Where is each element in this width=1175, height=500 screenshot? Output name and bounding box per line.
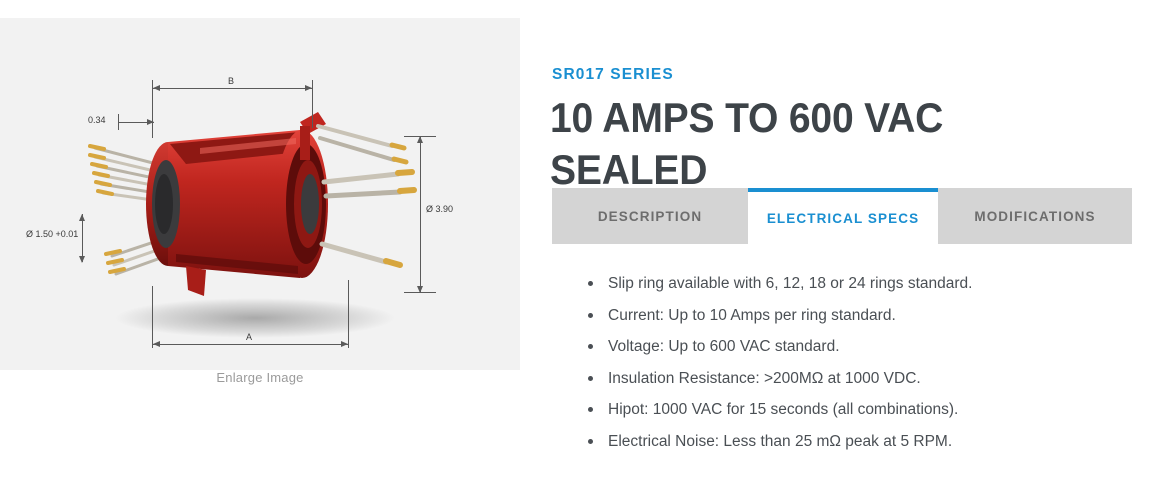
dim-a-ext-right: [348, 280, 349, 348]
tab-bar: DESCRIPTION ELECTRICAL SPECS MODIFICATIO…: [552, 188, 1132, 244]
list-item: Slip ring available with 6, 12, 18 or 24…: [588, 268, 1133, 300]
dim-b-arrow-right: [305, 85, 312, 91]
list-item: Insulation Resistance: >200MΩ at 1000 VD…: [588, 363, 1133, 395]
list-item: Hipot: 1000 VAC for 15 seconds (all comb…: [588, 394, 1133, 426]
list-item: Current: Up to 10 Amps per ring standard…: [588, 300, 1133, 332]
dim-034-tick2: [152, 114, 153, 130]
tab-description[interactable]: DESCRIPTION: [552, 188, 748, 244]
dim-a-arrow-right: [341, 341, 348, 347]
dim-b-line: [152, 88, 312, 89]
dim-a-ext-left: [152, 286, 153, 348]
electrical-specs-list: Slip ring available with 6, 12, 18 or 24…: [588, 268, 1133, 457]
dim-390-arrow-top: [417, 136, 423, 143]
slip-ring-illustration: [0, 18, 520, 370]
dim-a-line: [152, 344, 348, 345]
product-image-panel[interactable]: B 0.34 Ø 3.90 Ø 1.50 +0.01: [0, 18, 520, 370]
dim-b-arrow-left: [153, 85, 160, 91]
product-detail-page: B 0.34 Ø 3.90 Ø 1.50 +0.01: [0, 0, 1175, 500]
dim-150-line: [82, 214, 83, 262]
dim-034-tick: [118, 114, 119, 130]
dim-150-arrow-bottom: [79, 256, 85, 263]
dim-390-line: [420, 136, 421, 292]
tab-electrical-specs[interactable]: ELECTRICAL SPECS: [748, 188, 938, 244]
enlarge-image-link[interactable]: Enlarge Image: [0, 370, 520, 385]
product-info-panel: SR017 SERIES 10 AMPS TO 600 VAC SEALED D…: [552, 0, 1152, 500]
list-item: Voltage: Up to 600 VAC standard.: [588, 331, 1133, 363]
list-item: Electrical Noise: Less than 25 mΩ peak a…: [588, 426, 1133, 458]
dim-150-label: Ø 1.50 +0.01: [26, 229, 78, 239]
technical-drawing: B 0.34 Ø 3.90 Ø 1.50 +0.01: [0, 18, 520, 370]
dim-a-arrow-left: [153, 341, 160, 347]
dim-b-label: B: [228, 76, 234, 86]
dim-390-tick-top: [404, 136, 436, 137]
dim-390-label: Ø 3.90: [426, 204, 453, 214]
page-title: 10 AMPS TO 600 VAC SEALED: [550, 92, 1110, 196]
tab-modifications[interactable]: MODIFICATIONS: [938, 188, 1132, 244]
series-label: SR017 SERIES: [552, 66, 674, 84]
dim-150-arrow-top: [79, 214, 85, 221]
dim-390-tick-bottom: [404, 292, 436, 293]
dim-034-label: 0.34: [88, 115, 106, 125]
dim-b-ext-right: [312, 80, 313, 128]
dim-a-label: A: [246, 332, 252, 342]
